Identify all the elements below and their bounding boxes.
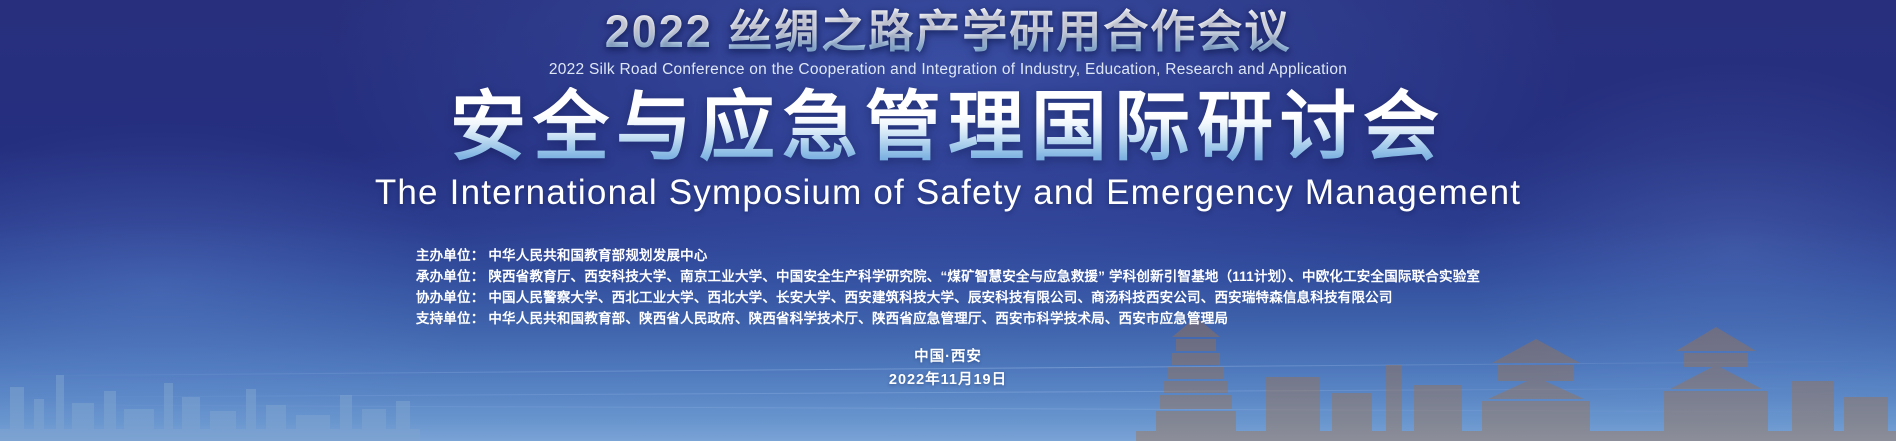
organizer-value: 中国人民警察大学、西北工业大学、西北大学、长安大学、西安建筑科技大学、辰安科技有… [488, 290, 1392, 305]
event-location: 中国·西安 [0, 346, 1896, 369]
organizer-value: 中华人民共和国教育部、陕西省人民政府、陕西省科学技术厅、陕西省应急管理厅、西安市… [488, 311, 1228, 326]
conference-banner: 2022 丝绸之路产学研用合作会议 2022 Silk Road Confere… [0, 0, 1896, 441]
event-footer: 中国·西安 2022年11月19日 [0, 346, 1896, 392]
conference-kicker-cn: 2022 丝绸之路产学研用合作会议 [0, 8, 1896, 55]
organizer-label: 协办单位： [416, 290, 485, 305]
page-title-en: The International Symposium of Safety an… [0, 173, 1896, 213]
organizer-row-host: 主办单位： 中华人民共和国教育部规划发展中心 [416, 245, 1480, 266]
organizer-row-coorganizer: 协办单位： 中国人民警察大学、西北工业大学、西北大学、长安大学、西安建筑科技大学… [416, 287, 1480, 308]
event-date: 2022年11月19日 [0, 369, 1896, 392]
organizer-value: 陕西省教育厅、西安科技大学、南京工业大学、中国安全生产科学研究院、“煤矿智慧安全… [488, 269, 1480, 284]
organizer-row-supporter: 支持单位： 中华人民共和国教育部、陕西省人民政府、陕西省科学技术厅、陕西省应急管… [416, 308, 1480, 329]
organizer-label: 承办单位： [416, 269, 485, 284]
organizer-row-undertaker: 承办单位： 陕西省教育厅、西安科技大学、南京工业大学、中国安全生产科学研究院、“… [416, 266, 1480, 287]
banner-content: 2022 丝绸之路产学研用合作会议 2022 Silk Road Confere… [0, 0, 1896, 392]
page-title-cn: 安全与应急管理国际研讨会 [0, 87, 1896, 169]
organizer-label: 支持单位： [416, 311, 485, 326]
organizer-label: 主办单位： [416, 248, 485, 263]
conference-kicker-en: 2022 Silk Road Conference on the Coopera… [0, 61, 1896, 79]
organizers-block: 主办单位： 中华人民共和国教育部规划发展中心 承办单位： 陕西省教育厅、西安科技… [416, 245, 1480, 329]
organizer-value: 中华人民共和国教育部规划发展中心 [488, 248, 707, 263]
